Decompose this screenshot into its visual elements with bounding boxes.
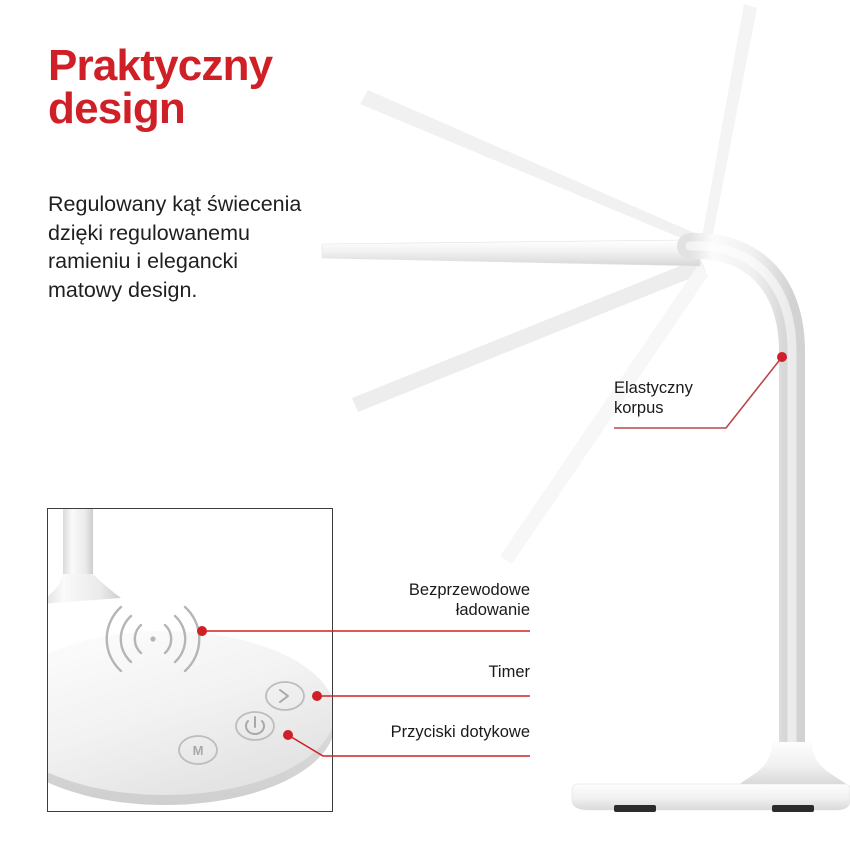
headline-line-1: Praktyczny: [48, 44, 378, 87]
callout-bezprzewodowe-ladowanie: Bezprzewodowe ładowanie: [330, 580, 530, 621]
subcopy-line-4: matowy design.: [48, 276, 333, 305]
lamp-arm-ghost-2: [322, 244, 700, 266]
callout-elastyczny-korpus: Elastyczny korpus: [614, 378, 774, 419]
page-subcopy: Regulowany kąt świecenia dzięki regulowa…: [48, 190, 333, 304]
lamp-base-foot-left: [614, 805, 656, 812]
lamp-arm-ghosts: [322, 4, 757, 564]
page-headline: Praktyczny design: [48, 44, 378, 130]
lamp-base-foot-right: [772, 805, 814, 812]
subcopy-line-3: ramieniu i elegancki: [48, 247, 333, 276]
leader-timer: [312, 691, 530, 701]
infographic-canvas: Praktyczny design Regulowany kąt świecen…: [0, 0, 850, 850]
headline-line-2: design: [48, 87, 378, 130]
lamp-neck-curve: [690, 246, 792, 760]
leader-dot-elastyczny: [777, 352, 787, 362]
callout-timer-line-1: Timer: [330, 662, 530, 682]
lamp-neck-highlight: [690, 246, 792, 760]
lamp-arm-main: [322, 240, 700, 266]
subcopy-line-2: dzięki regulowanemu: [48, 219, 333, 248]
lamp-arm-ghost-1: [360, 90, 706, 246]
callout-wireless-line-2: ładowanie: [330, 600, 530, 620]
lamp-base-slab: [572, 784, 850, 810]
wireless-center-dot: [150, 636, 155, 641]
lamp-base-detail-inset: M: [47, 508, 333, 812]
lamp-base-detail-illustration: M: [47, 508, 333, 812]
lamp-arm-ghost-0: [700, 4, 757, 250]
callout-przyciski-dotykowe: Przyciski dotykowe: [330, 722, 530, 742]
base-pole-shaft: [63, 508, 93, 574]
callout-elastyczny-line-2: korpus: [614, 398, 774, 418]
lamp-stem-flare: [740, 742, 846, 784]
callout-timer: Timer: [330, 662, 530, 682]
subcopy-line-1: Regulowany kąt świecenia: [48, 190, 333, 219]
callout-elastyczny-line-1: Elastyczny: [614, 378, 774, 398]
callout-wireless-line-1: Bezprzewodowe: [330, 580, 530, 600]
callout-touch-line-1: Przyciski dotykowe: [330, 722, 530, 742]
svg-text:M: M: [193, 743, 204, 758]
